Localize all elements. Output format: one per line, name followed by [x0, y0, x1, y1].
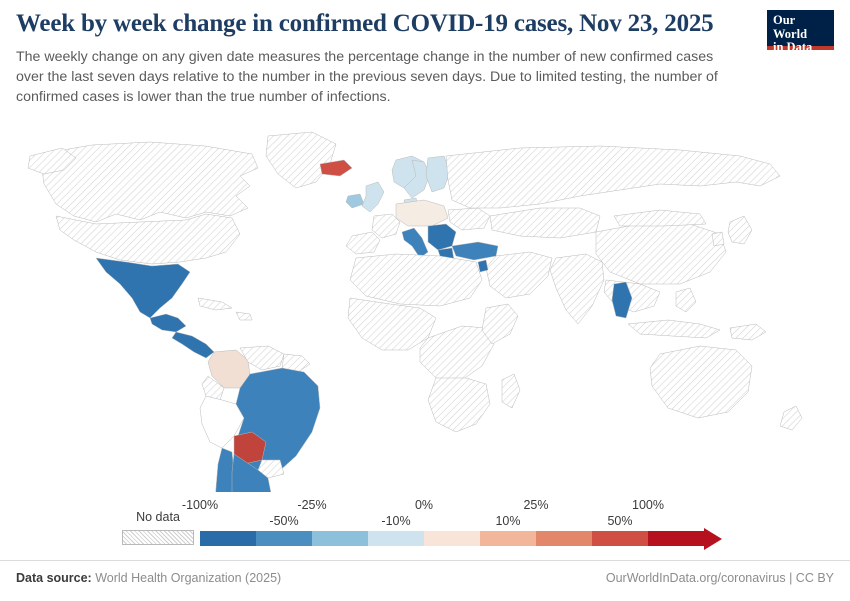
legend-swatch[interactable] — [424, 531, 480, 546]
country-cuba[interactable] — [198, 298, 232, 310]
chart-header: Week by week change in confirmed COVID-1… — [16, 10, 756, 107]
country-nicaragua-costarica-panama[interactable] — [172, 332, 214, 358]
country-north-africa[interactable] — [350, 254, 482, 306]
country-ukraine[interactable] — [448, 208, 490, 230]
legend-tick-label: 25% — [506, 498, 566, 512]
page-title: Week by week change in confirmed COVID-1… — [16, 10, 756, 39]
country-new-zealand[interactable] — [780, 406, 802, 430]
legend-swatch[interactable] — [368, 531, 424, 546]
country-png[interactable] — [730, 324, 766, 340]
country-guatemala-honduras[interactable] — [150, 314, 186, 332]
country-australia[interactable] — [650, 346, 752, 418]
country-indonesia[interactable] — [628, 320, 720, 338]
legend-tick-label: -10% — [366, 514, 426, 528]
legend-tick-label: 0% — [394, 498, 454, 512]
legend-no-data[interactable]: No data — [122, 509, 194, 545]
legend-tick-label: 50% — [590, 514, 650, 528]
world-map-svg[interactable] — [0, 112, 850, 492]
legend-tick-label: -25% — [282, 498, 342, 512]
country-germany-poland[interactable] — [396, 200, 448, 226]
country-chile[interactable] — [212, 448, 234, 492]
country-ireland[interactable] — [346, 194, 364, 208]
data-source: Data source: World Health Organization (… — [16, 571, 281, 585]
country-madagascar[interactable] — [502, 374, 520, 408]
country-usa[interactable] — [56, 214, 240, 264]
footer-separator: | — [789, 571, 792, 585]
country-turkey[interactable] — [452, 242, 498, 260]
country-philippines[interactable] — [676, 288, 696, 312]
owid-site-link[interactable]: OurWorldInData.org/coronavirus — [606, 571, 786, 585]
country-central-africa[interactable] — [420, 326, 494, 380]
legend-tick-label: -100% — [170, 498, 230, 512]
legend-swatch[interactable] — [592, 531, 648, 546]
country-west-africa[interactable] — [348, 298, 436, 350]
data-source-value: World Health Organization (2025) — [95, 571, 281, 585]
legend-tick-label: 100% — [618, 498, 678, 512]
country-israel[interactable] — [478, 260, 488, 272]
chart-subtitle: The weekly change on any given date meas… — [16, 47, 742, 107]
legend-swatch[interactable] — [648, 531, 704, 546]
legend-swatch[interactable] — [536, 531, 592, 546]
legend-tick-label: -50% — [254, 514, 314, 528]
map-legend: No data -100%-50%-25%-10%0%10%25%50%100% — [0, 495, 850, 555]
legend-swatch[interactable] — [480, 531, 536, 546]
country-spain[interactable] — [346, 232, 380, 254]
legend-tick-label: 10% — [478, 514, 538, 528]
chart-footer: Data source: World Health Organization (… — [0, 560, 850, 601]
country-kazakhstan-centralasia[interactable] — [490, 208, 600, 238]
legend-swatch[interactable] — [312, 531, 368, 546]
data-source-label: Data source: — [16, 571, 92, 585]
owid-logo-line2: in Data — [773, 41, 829, 55]
legend-color-ramp[interactable] — [200, 531, 704, 546]
country-korea[interactable] — [712, 232, 724, 246]
country-india[interactable] — [550, 254, 604, 324]
legend-arrow-icon — [704, 528, 722, 550]
country-canada[interactable] — [40, 142, 258, 222]
country-mexico[interactable] — [96, 258, 190, 318]
owid-logo[interactable]: Our World in Data — [767, 10, 834, 50]
country-italy[interactable] — [402, 228, 428, 258]
legend-swatch[interactable] — [200, 531, 256, 546]
country-russia[interactable] — [446, 146, 780, 208]
country-iran-arabia[interactable] — [486, 252, 552, 298]
legend-inner: No data -100%-50%-25%-10%0%10%25%50%100% — [0, 495, 850, 555]
country-southern-africa[interactable] — [428, 378, 490, 432]
legend-swatch[interactable] — [256, 531, 312, 546]
country-japan[interactable] — [728, 216, 752, 244]
license-link[interactable]: CC BY — [796, 571, 834, 585]
owid-map-chart: Week by week change in confirmed COVID-1… — [0, 0, 850, 600]
world-map[interactable] — [0, 112, 850, 492]
country-greenland[interactable] — [266, 132, 336, 188]
footer-links: OurWorldInData.org/coronavirus | CC BY — [606, 571, 834, 585]
map-countries — [28, 132, 802, 492]
country-china[interactable] — [596, 224, 726, 284]
country-mongolia[interactable] — [614, 210, 706, 226]
country-uk[interactable] — [362, 182, 384, 212]
legend-no-data-swatch — [122, 530, 194, 545]
owid-logo-line1: Our World — [773, 14, 829, 41]
country-hispaniola[interactable] — [236, 312, 252, 320]
